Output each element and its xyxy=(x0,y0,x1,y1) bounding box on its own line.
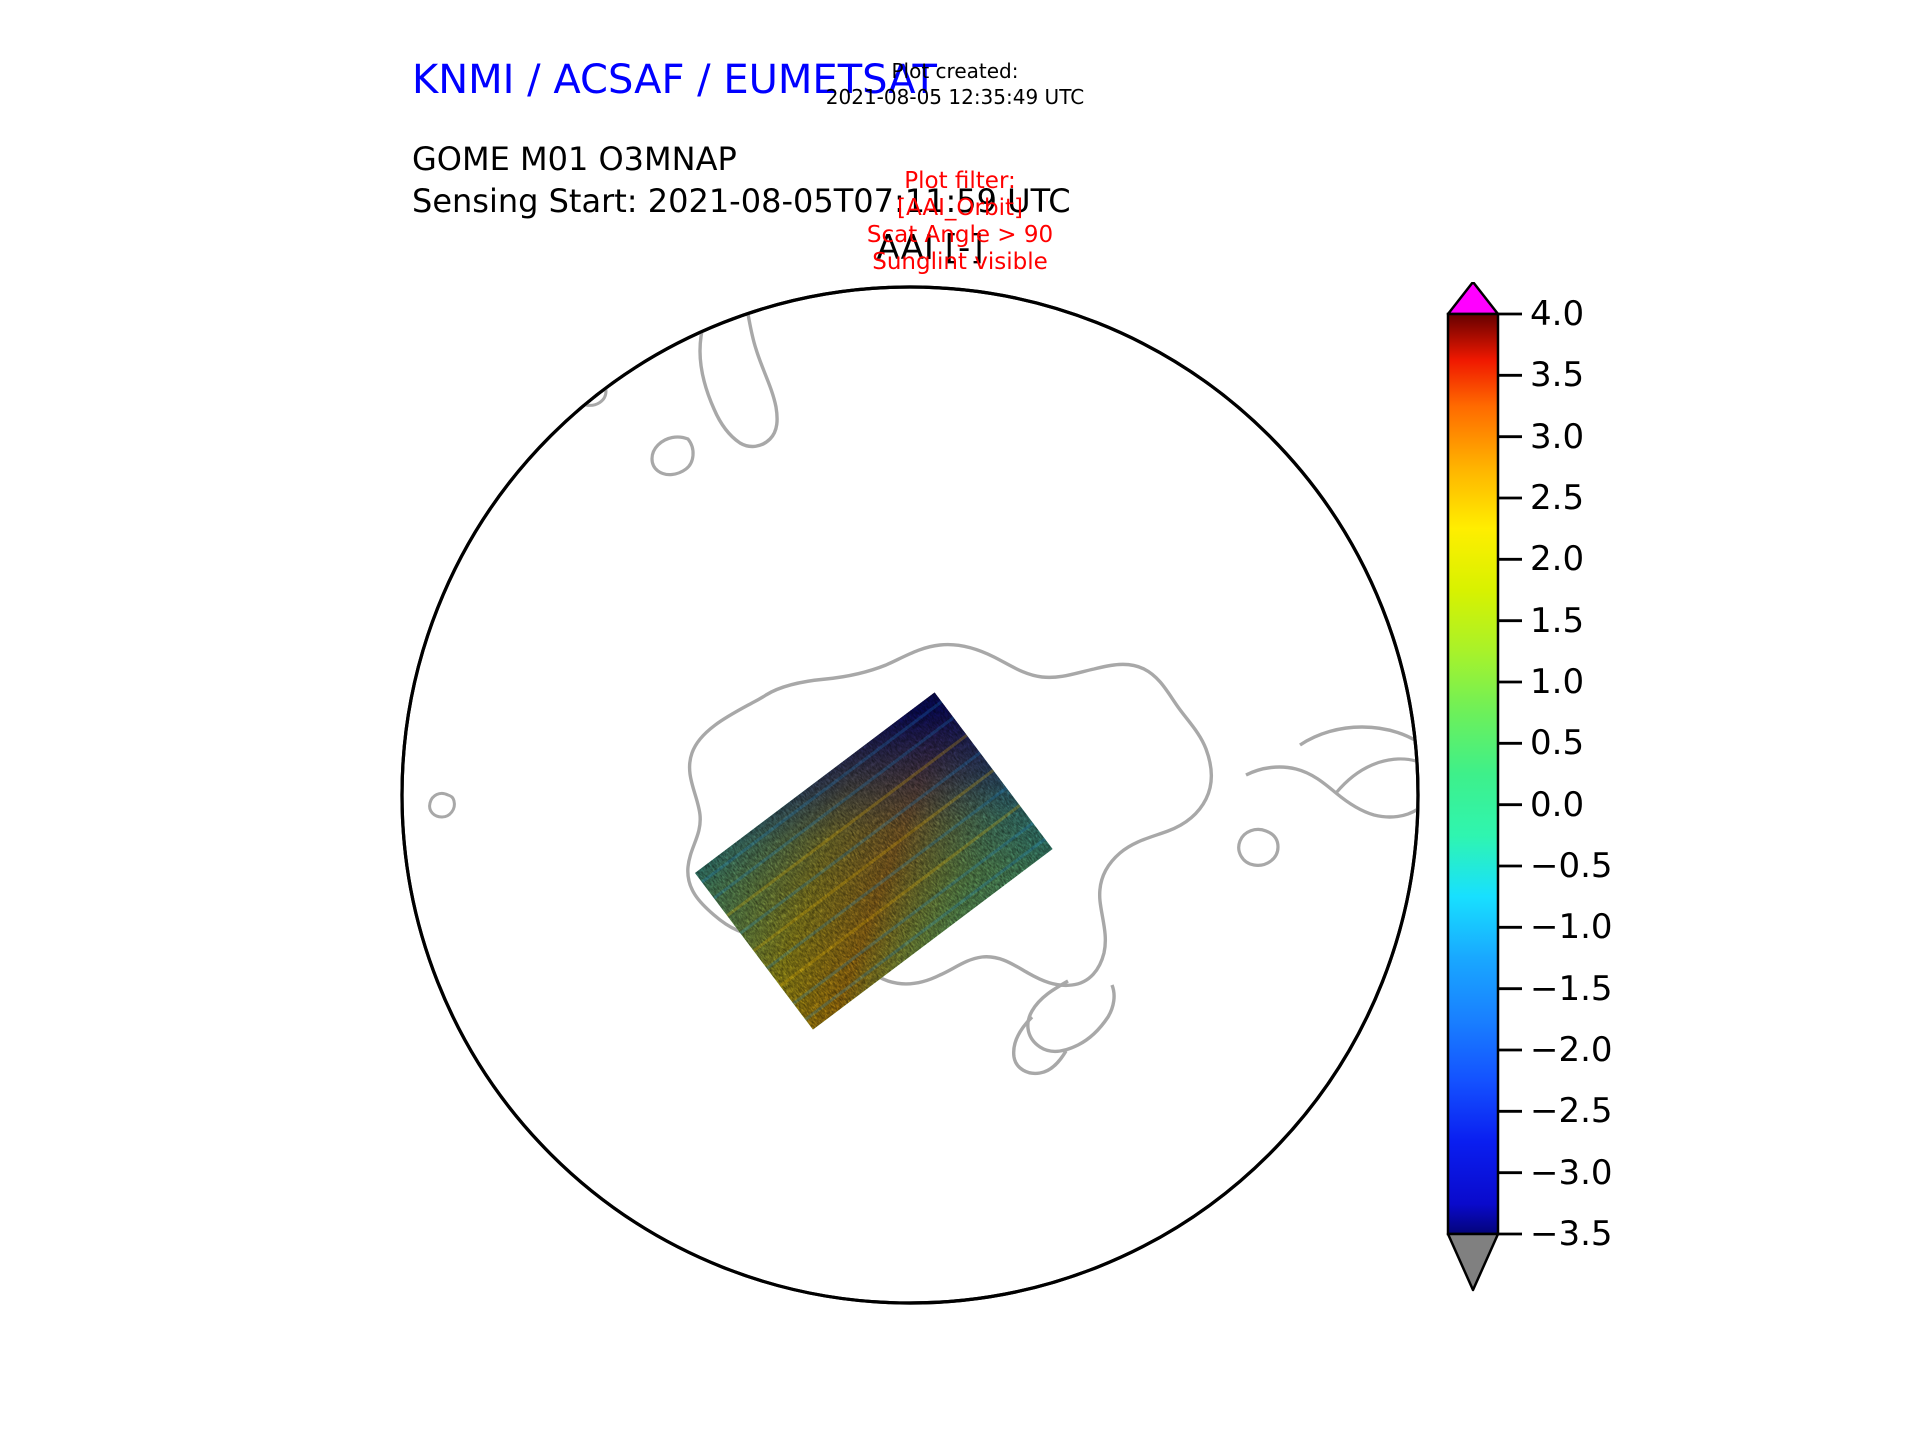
plot-filter-block: Plot filter: [AAI_Orbit] Scat Angle > 90… xyxy=(760,168,1160,276)
colorbar: 4.0 3.5 3.0 2.5 2.0 1.5 1.0 0.5 0.0 −0.5… xyxy=(1430,282,1810,1317)
polar-stereographic-map xyxy=(400,275,1420,1315)
colorbar-tick-label: −1.0 xyxy=(1530,907,1613,947)
colorbar-tick-label: 1.5 xyxy=(1530,601,1584,641)
colorbar-ticks xyxy=(1498,314,1522,1234)
colorbar-tick-label: 3.0 xyxy=(1530,417,1584,457)
colorbar-tick-label: 0.5 xyxy=(1530,723,1584,763)
plot-filter-scat-angle: Scat Angle > 90 xyxy=(760,222,1160,249)
colorbar-tick-label: 3.5 xyxy=(1530,355,1584,395)
colorbar-graphic xyxy=(1430,282,1810,1317)
colorbar-tick-label: −1.5 xyxy=(1530,969,1613,1009)
plot-created-timestamp: 2021-08-05 12:35:49 UTC xyxy=(755,84,1155,110)
colorbar-tick-label: 2.5 xyxy=(1530,478,1584,518)
colorbar-tick-label: −2.5 xyxy=(1530,1091,1613,1131)
colorbar-tick-label: −0.5 xyxy=(1530,846,1613,886)
plot-canvas: KNMI / ACSAF / EUMETSAT GOME M01 O3MNAP … xyxy=(0,0,1920,1440)
colorbar-tick-label: −2.0 xyxy=(1530,1030,1613,1070)
colorbar-tick-label: 0.0 xyxy=(1530,785,1584,825)
colorbar-over-arrow xyxy=(1448,282,1498,314)
colorbar-tick-label: 1.0 xyxy=(1530,662,1584,702)
colorbar-gradient xyxy=(1448,314,1498,1234)
plot-created-block: Plot created: 2021-08-05 12:35:49 UTC xyxy=(755,58,1155,110)
colorbar-tick-label: −3.5 xyxy=(1530,1214,1613,1254)
plot-filter-sunglint: Sunglint visible xyxy=(760,249,1160,276)
plot-filter-label: Plot filter: xyxy=(760,168,1160,195)
colorbar-under-arrow xyxy=(1448,1234,1498,1290)
colorbar-tick-label: 2.0 xyxy=(1530,539,1584,579)
map-area xyxy=(400,275,1420,1315)
plot-created-label: Plot created: xyxy=(755,58,1155,84)
colorbar-tick-label: −3.0 xyxy=(1530,1153,1613,1193)
colorbar-tick-label: 4.0 xyxy=(1530,294,1584,334)
plot-filter-dataset: [AAI_Orbit] xyxy=(760,195,1160,222)
